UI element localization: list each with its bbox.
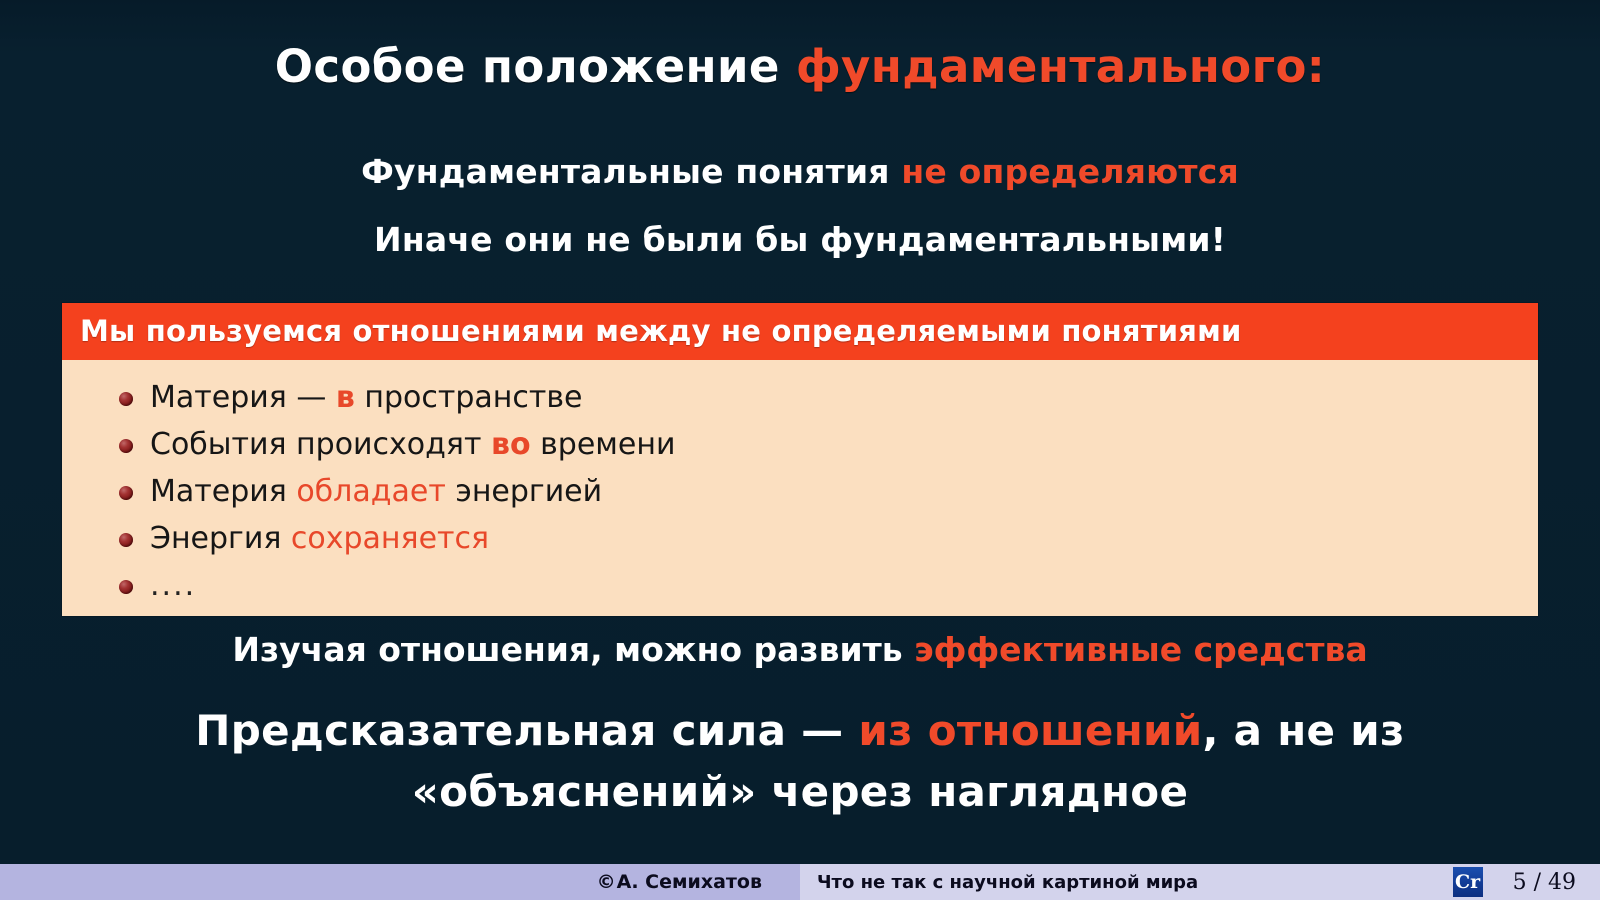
slide-title-plain: Особое положение [275,40,796,93]
footer-author-segment: ©А. Семихатов [0,864,800,900]
highlight-block-body: Материя — в пространстве События происхо… [62,360,1538,616]
list-item: Материя обладает энергией [62,468,1538,515]
highlight-block-header: Мы пользуемся отношениями между не опред… [62,303,1538,360]
bullet-text-accent: обладает [296,474,445,509]
bullet-text-pre: События происходят [150,427,491,462]
bullet-dot-icon [119,533,133,547]
bullet-text-accent: во [491,427,531,462]
subtitle-1-accent: не определяются [901,152,1239,191]
bottom-1-accent: эффективные средства [914,630,1368,669]
bullet-text-post: энергией [446,474,602,509]
slide-title-accent: фундаментального: [796,40,1325,93]
bottom-1-plain: Изучая отношения, можно развить [232,630,914,669]
bullet-dot-icon [119,580,133,594]
cr-badge-icon[interactable]: Cr [1453,867,1483,897]
bottom-2-accent: из отношений [858,706,1202,755]
bullet-dot-icon [119,439,133,453]
bullet-text-pre: .... [150,568,196,603]
footer-talk-title: Что не так с научной картиной мира [800,864,1453,900]
footer-author-name: А. Семихатов [617,871,762,893]
subtitle-line-1: Фундаментальные понятия не определяются [0,152,1600,191]
highlight-block: Мы пользуемся отношениями между не опред… [62,303,1538,616]
footer-right-segment: Cr 5 / 49 [1453,864,1600,900]
bottom-2-pre: Предсказательная сила — [195,706,858,755]
bullet-text-pre: Материя — [150,380,336,415]
list-item: События происходят во времени [62,421,1538,468]
subtitle-1-plain: Фундаментальные понятия [361,152,901,191]
slide-title: Особое положение фундаментального: [0,40,1600,93]
slide-footer: ©А. Семихатов Что не так с научной карти… [0,864,1600,900]
list-item: Материя — в пространстве [62,374,1538,421]
subtitle-line-2: Иначе они не были бы фундаментальными! [0,220,1600,259]
bullet-list: Материя — в пространстве События происхо… [62,374,1538,609]
page-number: 5 / 49 [1513,870,1576,895]
bullet-text-pre: Энергия [150,521,291,556]
bullet-text-post: времени [531,427,676,462]
bullet-text-pre: Материя [150,474,296,509]
bottom-line-1: Изучая отношения, можно развить эффектив… [0,630,1600,669]
bottom-2-post: , а не из [1202,706,1404,755]
bullet-text-accent: в [336,380,355,415]
copyright-icon: © [597,871,616,893]
list-item: .... [62,562,1538,609]
bullet-text-post: пространстве [355,380,583,415]
bottom-line-2: Предсказательная сила — из отношений, а … [0,706,1600,755]
bullet-text-accent: сохраняется [291,521,489,556]
slide-root: Особое положение фундаментального: Фунда… [0,0,1600,900]
list-item: Энергия сохраняется [62,515,1538,562]
bottom-line-3: «объяснений» через наглядное [0,767,1600,816]
bullet-dot-icon [119,486,133,500]
bullet-dot-icon [119,392,133,406]
